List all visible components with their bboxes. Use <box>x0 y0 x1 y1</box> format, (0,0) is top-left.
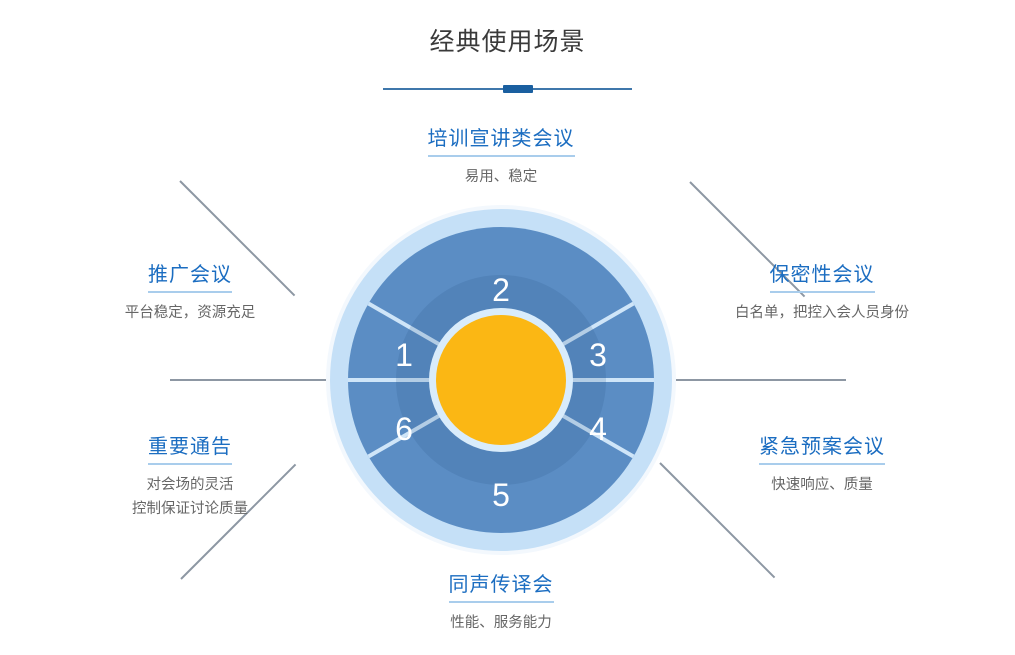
scenario-title-right-bottom: 紧急预案会议 <box>759 430 885 465</box>
scenario-label-left-bottom: 重要通告 对会场的灵活 控制保证讨论质量 <box>40 430 340 521</box>
segment-number-5: 5 <box>481 473 521 517</box>
connector-line-left-middle <box>170 379 326 381</box>
scenario-subtitle-right-bottom: 快速响应、质量 <box>662 473 982 497</box>
scenario-label-left-top: 推广会议 平台稳定，资源充足 <box>40 258 340 325</box>
segment-number-2: 2 <box>481 268 521 312</box>
scenario-subtitle-right-top: 白名单，把控入会人员身份 <box>662 301 982 325</box>
segment-number-6: 6 <box>384 407 424 451</box>
segment-number-1: 1 <box>384 333 424 377</box>
connector-line-right-middle <box>676 379 846 381</box>
scenario-subtitle-left-bottom-line1: 对会场的灵活 <box>40 473 340 497</box>
scenario-subtitle-bottom: 性能、服务能力 <box>341 611 661 635</box>
scenario-label-right-top: 保密性会议 白名单，把控入会人员身份 <box>662 258 982 325</box>
wheel-hub-center <box>436 315 566 445</box>
page-title: 经典使用场景 <box>0 22 1015 58</box>
scenario-subtitle-left-top: 平台稳定，资源充足 <box>40 301 340 325</box>
scenario-label-top: 培训宣讲类会议 易用、稳定 <box>341 122 661 189</box>
scenario-subtitle-left-bottom-line2: 控制保证讨论质量 <box>40 497 340 521</box>
scenario-title-bottom: 同声传译会 <box>449 568 554 603</box>
scenario-title-left-top: 推广会议 <box>148 258 232 293</box>
scenario-title-top: 培训宣讲类会议 <box>428 122 575 157</box>
scenario-wheel-diagram: 1 2 3 4 5 6 <box>326 205 676 555</box>
scenario-label-right-bottom: 紧急预案会议 快速响应、质量 <box>662 430 982 497</box>
segment-number-3: 3 <box>578 333 618 377</box>
scenario-label-bottom: 同声传译会 性能、服务能力 <box>341 568 661 635</box>
scenario-title-right-top: 保密性会议 <box>770 258 875 293</box>
segment-number-4: 4 <box>578 407 618 451</box>
scenario-subtitle-top: 易用、稳定 <box>341 165 661 189</box>
title-divider-center-accent <box>503 85 533 93</box>
scenario-title-left-bottom: 重要通告 <box>148 430 232 465</box>
